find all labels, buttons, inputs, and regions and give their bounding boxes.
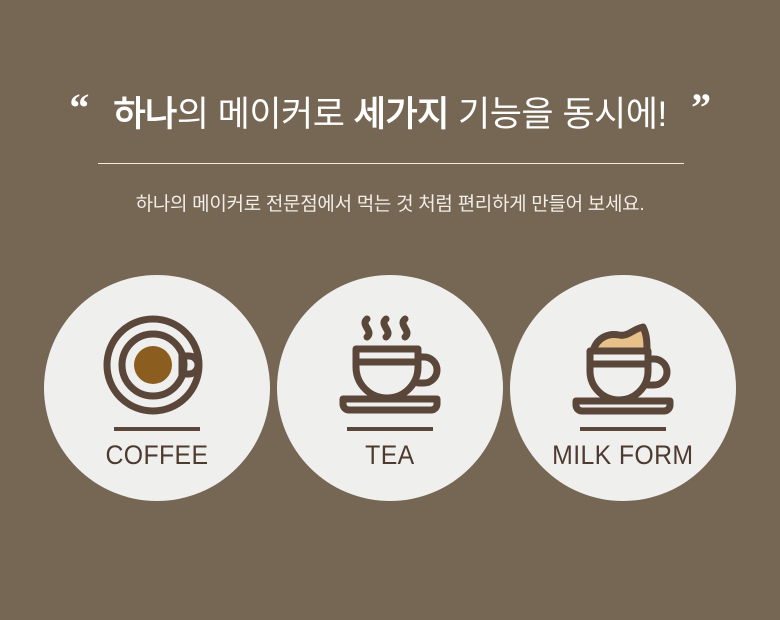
feature-label-coffee: COFFEE [106,440,209,470]
headline-part-2: 의 메이커로 [177,95,354,134]
headline-divider [98,163,684,164]
promo-banner: “ 하나의 메이커로 세가지 기능을 동시에! ” 하나의 메이커로 전문점에서… [0,0,780,620]
headline-part-3: 세가지 [354,95,449,134]
quote-close-icon: ” [691,88,711,128]
coffee-cup-top-view-icon [98,307,216,419]
feature-item-milk-form[interactable]: MILK FORM [510,275,736,501]
feature-label-milk-form: MILK FORM [552,440,693,470]
feature-item-tea[interactable]: TEA [277,275,503,501]
feature-divider [580,427,666,431]
feature-list: COFFEE [44,275,736,507]
headline-part-4: 기능을 동시에! [449,95,667,134]
feature-divider [347,427,433,431]
milk-foam-cup-icon [564,307,682,419]
quote-open-icon: “ [69,88,89,128]
feature-label-tea: TEA [365,440,414,470]
headline-part-1: 하나 [113,95,176,134]
tea-cup-steam-icon [331,307,449,419]
feature-divider [114,427,200,431]
subtitle: 하나의 메이커로 전문점에서 먹는 것 처럼 편리하게 만들어 보세요. [0,190,780,220]
headline-section: “ 하나의 메이커로 세가지 기능을 동시에! ” [0,92,780,138]
page-title: “ 하나의 메이커로 세가지 기능을 동시에! ” [67,92,712,138]
feature-item-coffee[interactable]: COFFEE [44,275,270,501]
